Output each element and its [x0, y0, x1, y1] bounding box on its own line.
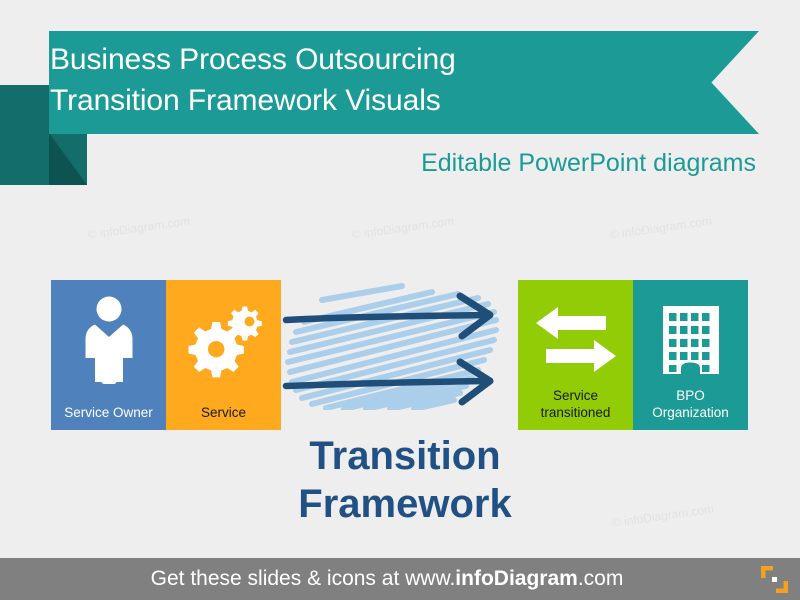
tile-label: Service transitioned — [518, 387, 633, 421]
watermark: © infoDiagram.com — [611, 502, 715, 530]
sketch-arrows-icon — [282, 278, 518, 410]
tile-service-transitioned[interactable]: Service transitioned — [518, 280, 633, 430]
tile-service[interactable]: Service — [166, 280, 281, 430]
tile-label: Service Owner — [51, 404, 166, 421]
subtitle: Editable PowerPoint diagrams — [421, 147, 756, 179]
slide-canvas: Business Process Outsourcing Transition … — [0, 0, 800, 600]
tile-service-owner[interactable]: Service Owner — [51, 280, 166, 430]
watermark: © infoDiagram.com — [351, 214, 455, 242]
footer-bar: Get these slides & icons at www.infoDiag… — [0, 558, 800, 600]
watermark: © infoDiagram.com — [87, 214, 191, 242]
gears-icon — [166, 294, 281, 386]
footer-text: Get these slides & icons at www.infoDiag… — [0, 566, 800, 592]
footer-text-brand: infoDiagram — [455, 567, 578, 590]
tile-label: BPO Organization — [633, 387, 748, 421]
two-way-arrows-icon — [518, 294, 633, 386]
footer-text-prefix: Get these slides & icons at www. — [151, 567, 456, 590]
watermark: © infoDiagram.com — [609, 214, 713, 242]
infodiagram-logo-icon[interactable] — [761, 566, 788, 593]
tile-label: Service — [166, 404, 281, 421]
footer-text-suffix: .com — [578, 567, 624, 590]
person-icon — [51, 294, 166, 386]
page-title: Business Process Outsourcing Transition … — [50, 39, 670, 121]
tile-bpo-organization[interactable]: BPO Organization — [633, 280, 748, 430]
office-building-icon — [633, 294, 748, 386]
diagram-caption: Transition Framework — [255, 432, 555, 528]
